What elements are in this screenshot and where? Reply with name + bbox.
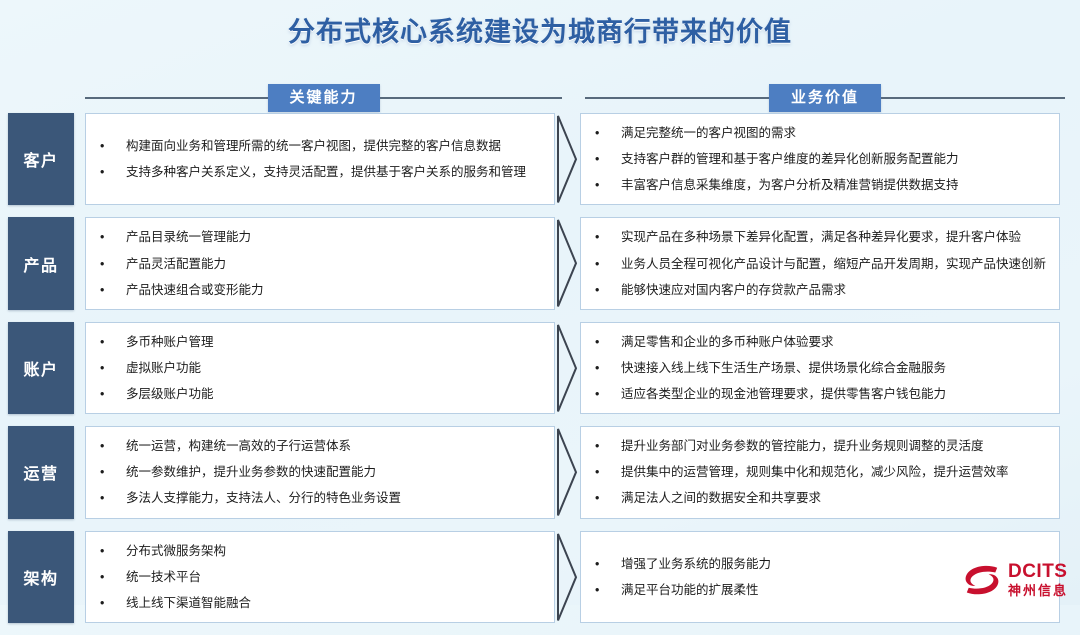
category-label: 架构: [23, 565, 58, 589]
chevron-right-icon: [556, 115, 578, 203]
capabilities-panel: •构建面向业务和管理所需的统一客户视图，提供完整的客户信息数据•支持多种客户关系…: [85, 113, 555, 205]
value-item-text: 满足零售和企业的多币种账户体验要求: [621, 333, 1049, 351]
category-block[interactable]: 客户: [8, 113, 74, 205]
bullet-dot-icon: •: [100, 542, 126, 560]
capability-item-text: 构建面向业务和管理所需的统一客户视图，提供完整的客户信息数据: [126, 137, 544, 155]
bullet-dot-icon: •: [100, 437, 126, 455]
capability-item-text: 产品快速组合或变形能力: [126, 281, 544, 299]
bullet-dot-icon: •: [595, 255, 621, 273]
matrix-row: 运营•统一运营，构建统一高效的子行运营体系•统一参数维护，提升业务参数的快速配置…: [0, 426, 1080, 518]
bullet-dot-icon: •: [100, 137, 126, 155]
capabilities-panel: •多币种账户管理•虚拟账户功能•多层级账户功能: [85, 322, 555, 414]
value-item-text: 业务人员全程可视化产品设计与配置，缩短产品开发周期，实现产品快速创新: [621, 255, 1049, 273]
business-values-panel: •实现产品在多种场景下差异化配置，满足各种差异化要求，提升客户体验•业务人员全程…: [580, 217, 1060, 309]
company-logo: DCITS 神州信息: [963, 562, 1068, 597]
header-rule-left: [585, 97, 769, 99]
dcits-swoosh-icon: [963, 563, 1001, 597]
value-item: •支持客户群的管理和基于客户维度的差异化创新服务配置能力: [595, 146, 1049, 172]
value-item: •提升业务部门对业务参数的管控能力，提升业务规则调整的灵活度: [595, 433, 1049, 459]
value-item: •满足零售和企业的多币种账户体验要求: [595, 329, 1049, 355]
category-block[interactable]: 运营: [8, 426, 74, 518]
category-label: 运营: [23, 460, 58, 484]
category-label: 产品: [23, 252, 58, 276]
bullet-dot-icon: •: [595, 359, 621, 377]
category-block[interactable]: 产品: [8, 217, 74, 309]
business-values-panel: •提升业务部门对业务参数的管控能力，提升业务规则调整的灵活度•提供集中的运营管理…: [580, 426, 1060, 518]
value-item-text: 满足完整统一的客户视图的需求: [621, 124, 1049, 142]
bullet-dot-icon: •: [595, 463, 621, 481]
value-item-text: 提供集中的运营管理，规则集中化和规范化，减少风险，提升运营效率: [621, 463, 1049, 481]
matrix-row: 产品•产品目录统一管理能力•产品灵活配置能力•产品快速组合或变形能力•实现产品在…: [0, 217, 1080, 309]
bullet-dot-icon: •: [100, 489, 126, 507]
capability-item: •产品目录统一管理能力: [100, 224, 544, 250]
value-item-text: 适应各类型企业的现金池管理要求，提供零售客户钱包能力: [621, 385, 1049, 403]
bullet-dot-icon: •: [595, 281, 621, 299]
column-header-values: 业务价值: [585, 84, 1065, 112]
capabilities-panel: •产品目录统一管理能力•产品灵活配置能力•产品快速组合或变形能力: [85, 217, 555, 309]
capability-item: •线上线下渠道智能融合: [100, 590, 544, 616]
bullet-dot-icon: •: [100, 255, 126, 273]
bullet-dot-icon: •: [595, 385, 621, 403]
value-item-text: 满足法人之间的数据安全和共享要求: [621, 489, 1049, 507]
logo-text: DCITS 神州信息: [1008, 562, 1068, 597]
logo-name-en: DCITS: [1008, 562, 1068, 581]
category-label: 客户: [23, 147, 58, 171]
bullet-dot-icon: •: [100, 568, 126, 586]
bullet-dot-icon: •: [100, 228, 126, 246]
bullet-dot-icon: •: [100, 333, 126, 351]
capability-item-text: 虚拟账户功能: [126, 359, 544, 377]
capability-item: •多币种账户管理: [100, 329, 544, 355]
capability-item: •多法人支撑能力，支持法人、分行的特色业务设置: [100, 485, 544, 511]
value-item-text: 快速接入线上线下生活生产场景、提供场景化综合金融服务: [621, 359, 1049, 377]
header-rule-left: [85, 97, 268, 99]
capabilities-panel: •分布式微服务架构•统一技术平台•线上线下渠道智能融合: [85, 531, 555, 623]
category-label: 账户: [23, 356, 58, 380]
value-item: •实现产品在多种场景下差异化配置，满足各种差异化要求，提升客户体验: [595, 224, 1049, 250]
bullet-dot-icon: •: [595, 228, 621, 246]
bullet-dot-icon: •: [595, 176, 621, 194]
capability-item: •构建面向业务和管理所需的统一客户视图，提供完整的客户信息数据: [100, 133, 544, 159]
matrix-row: 客户•构建面向业务和管理所需的统一客户视图，提供完整的客户信息数据•支持多种客户…: [0, 113, 1080, 205]
bullet-dot-icon: •: [595, 124, 621, 142]
bullet-dot-icon: •: [595, 437, 621, 455]
bullet-dot-icon: •: [100, 463, 126, 481]
capability-item: •统一运营，构建统一高效的子行运营体系: [100, 433, 544, 459]
capability-item-text: 产品目录统一管理能力: [126, 228, 544, 246]
bullet-dot-icon: •: [595, 555, 621, 573]
category-block[interactable]: 架构: [8, 531, 74, 623]
bullet-dot-icon: •: [595, 150, 621, 168]
value-item-text: 丰富客户信息采集维度，为客户分析及精准营销提供数据支持: [621, 176, 1049, 194]
value-item-text: 实现产品在多种场景下差异化配置，满足各种差异化要求，提升客户体验: [621, 228, 1049, 246]
capability-item-text: 统一参数维护，提升业务参数的快速配置能力: [126, 463, 544, 481]
matrix-row: 账户•多币种账户管理•虚拟账户功能•多层级账户功能•满足零售和企业的多币种账户体…: [0, 322, 1080, 414]
header-badge-values: 业务价值: [769, 84, 881, 112]
column-headers: 关键能力 业务价值: [0, 84, 1080, 112]
capability-item-text: 分布式微服务架构: [126, 542, 544, 560]
value-item: •能够快速应对国内客户的存贷款产品需求: [595, 277, 1049, 303]
page-title: 分布式核心系统建设为城商行带来的价值: [288, 17, 792, 47]
capability-item: •虚拟账户功能: [100, 355, 544, 381]
bullet-dot-icon: •: [595, 333, 621, 351]
chevron-right-icon: [556, 324, 578, 412]
column-header-capabilities: 关键能力: [85, 84, 562, 112]
chevron-right-icon: [556, 533, 578, 621]
capability-item: •多层级账户功能: [100, 381, 544, 407]
chevron-right-icon: [556, 219, 578, 307]
value-item: •满足法人之间的数据安全和共享要求: [595, 485, 1049, 511]
value-item-text: 提升业务部门对业务参数的管控能力，提升业务规则调整的灵活度: [621, 437, 1049, 455]
bullet-dot-icon: •: [100, 594, 126, 612]
business-values-panel: •满足完整统一的客户视图的需求•支持客户群的管理和基于客户维度的差异化创新服务配…: [580, 113, 1060, 205]
bullet-dot-icon: •: [595, 489, 621, 507]
capability-item-text: 统一技术平台: [126, 568, 544, 586]
bullet-dot-icon: •: [100, 359, 126, 377]
capability-item-text: 线上线下渠道智能融合: [126, 594, 544, 612]
capability-item: •产品灵活配置能力: [100, 251, 544, 277]
value-item: •快速接入线上线下生活生产场景、提供场景化综合金融服务: [595, 355, 1049, 381]
logo-name-cn: 神州信息: [1008, 584, 1068, 597]
capability-item-text: 多币种账户管理: [126, 333, 544, 351]
chevron-right-icon: [556, 428, 578, 516]
capability-item: •统一技术平台: [100, 564, 544, 590]
value-item: •提供集中的运营管理，规则集中化和规范化，减少风险，提升运营效率: [595, 459, 1049, 485]
bullet-dot-icon: •: [100, 281, 126, 299]
value-item: •适应各类型企业的现金池管理要求，提供零售客户钱包能力: [595, 381, 1049, 407]
header-rule-right: [881, 97, 1065, 99]
capability-item-text: 多法人支撑能力，支持法人、分行的特色业务设置: [126, 489, 544, 507]
value-item-text: 支持客户群的管理和基于客户维度的差异化创新服务配置能力: [621, 150, 1049, 168]
category-block[interactable]: 账户: [8, 322, 74, 414]
value-item-text: 能够快速应对国内客户的存贷款产品需求: [621, 281, 1049, 299]
capability-item: •产品快速组合或变形能力: [100, 277, 544, 303]
capability-item: •统一参数维护，提升业务参数的快速配置能力: [100, 459, 544, 485]
capability-item: •分布式微服务架构: [100, 538, 544, 564]
matrix-rows: 客户•构建面向业务和管理所需的统一客户视图，提供完整的客户信息数据•支持多种客户…: [0, 113, 1080, 635]
page-title-bar: 分布式核心系统建设为城商行带来的价值: [0, 10, 1080, 49]
value-item: •业务人员全程可视化产品设计与配置，缩短产品开发周期，实现产品快速创新: [595, 251, 1049, 277]
value-item: •满足完整统一的客户视图的需求: [595, 120, 1049, 146]
capability-item: •支持多种客户关系定义，支持灵活配置，提供基于客户关系的服务和管理: [100, 159, 544, 185]
value-item: •丰富客户信息采集维度，为客户分析及精准营销提供数据支持: [595, 172, 1049, 198]
business-values-panel: •满足零售和企业的多币种账户体验要求•快速接入线上线下生活生产场景、提供场景化综…: [580, 322, 1060, 414]
capability-item-text: 产品灵活配置能力: [126, 255, 544, 273]
bullet-dot-icon: •: [100, 385, 126, 403]
capability-item-text: 支持多种客户关系定义，支持灵活配置，提供基于客户关系的服务和管理: [126, 163, 544, 181]
header-badge-capabilities: 关键能力: [268, 84, 380, 112]
capability-item-text: 多层级账户功能: [126, 385, 544, 403]
capabilities-panel: •统一运营，构建统一高效的子行运营体系•统一参数维护，提升业务参数的快速配置能力…: [85, 426, 555, 518]
capability-item-text: 统一运营，构建统一高效的子行运营体系: [126, 437, 544, 455]
bullet-dot-icon: •: [595, 581, 621, 599]
matrix-row: 架构•分布式微服务架构•统一技术平台•线上线下渠道智能融合•增强了业务系统的服务…: [0, 531, 1080, 623]
header-rule-right: [380, 97, 563, 99]
bullet-dot-icon: •: [100, 163, 126, 181]
